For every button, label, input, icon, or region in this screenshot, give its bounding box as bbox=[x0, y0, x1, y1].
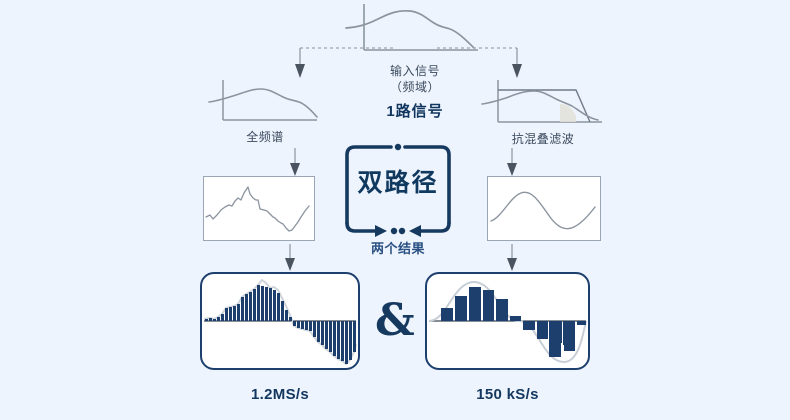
result-low-rate-panel bbox=[425, 272, 590, 370]
dual-path-badge: 双路径 bbox=[339, 143, 457, 235]
ampersand-symbol: & bbox=[375, 295, 415, 346]
dual-path-label: 双路径 bbox=[339, 163, 457, 199]
full-spectrum-label: 全频谱 bbox=[205, 128, 325, 145]
result-high-rate-chart bbox=[202, 274, 358, 368]
anti-alias-filter-label: 抗混叠滤波 bbox=[478, 130, 608, 147]
full-bandwidth-waveform-box bbox=[203, 176, 315, 241]
diagram-canvas: 输入信号 （频域） 1路信号 全频谱 bbox=[0, 0, 790, 420]
filtered-sine-waveform-box bbox=[487, 176, 601, 241]
result-low-rate-chart bbox=[427, 274, 588, 368]
full-spectrum-chart bbox=[205, 78, 325, 128]
high-rate-label: 1.2MS/s bbox=[200, 386, 360, 403]
two-results-label: 两个结果 bbox=[339, 238, 457, 257]
result-high-rate-panel bbox=[200, 272, 360, 370]
anti-alias-filter-chart bbox=[478, 78, 608, 130]
low-rate-label: 150 kS/s bbox=[425, 386, 590, 403]
